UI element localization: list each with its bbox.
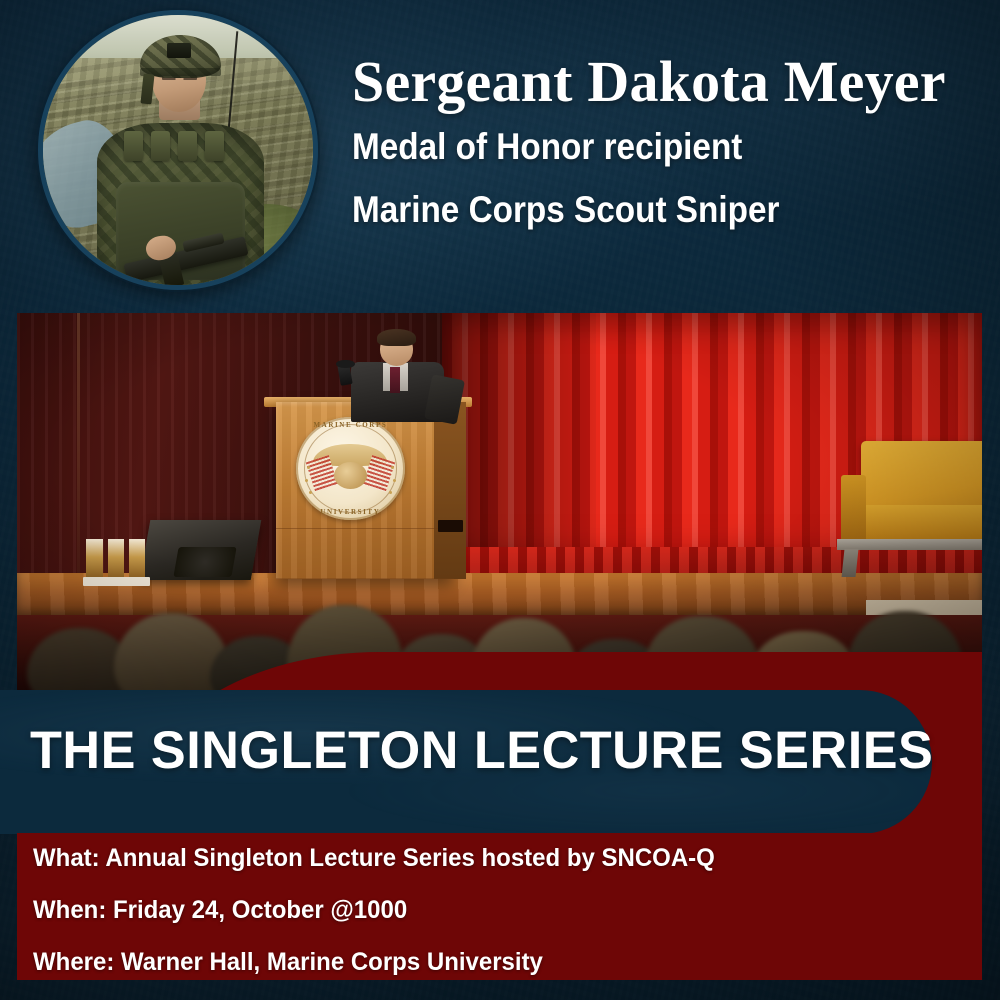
event-flyer-poster: Sergeant Dakota Meyer Medal of Honor rec… xyxy=(0,0,1000,1000)
portrait-ammo-pouch xyxy=(205,131,224,161)
portrait-ammo-pouch xyxy=(151,131,170,161)
speaker-credential-medal-of-honor: Medal of Honor recipient xyxy=(352,127,910,168)
speaker-portrait xyxy=(38,10,318,290)
detail-what: What: Annual Singleton Lecture Series ho… xyxy=(33,846,926,871)
detail-when: When: Friday 24, October @1000 xyxy=(33,898,926,923)
speaker-name: Sergeant Dakota Meyer xyxy=(352,52,972,111)
detail-where: Where: Warner Hall, Marine Corps Univers… xyxy=(33,950,926,975)
stage-photograph: MARINE CORPS UNIVERSITY xyxy=(17,313,982,690)
event-details-list: What: Annual Singleton Lecture Series ho… xyxy=(33,846,963,975)
speaker-credential-scout-sniper: Marine Corps Scout Sniper xyxy=(352,190,910,231)
photo-edge-shading xyxy=(17,313,982,690)
portrait-scene xyxy=(43,15,313,285)
portrait-ammo-pouch xyxy=(178,131,197,161)
portrait-ammo-pouch xyxy=(124,131,143,161)
headline-block: Sergeant Dakota Meyer Medal of Honor rec… xyxy=(352,52,972,231)
portrait-helmet-mount xyxy=(167,43,191,58)
lecture-series-title: THE SINGLETON LECTURE SERIES xyxy=(30,724,917,777)
